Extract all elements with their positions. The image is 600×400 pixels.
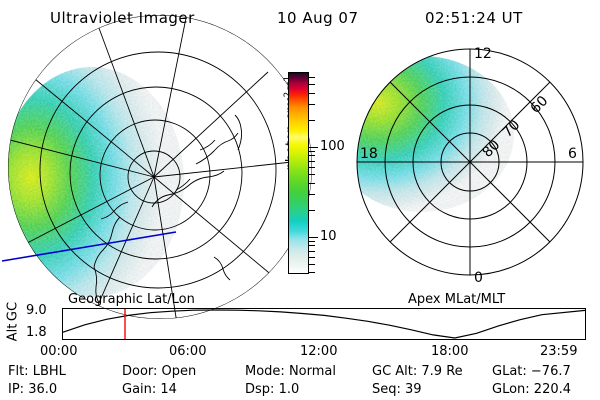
status-field-value: 39: [405, 382, 422, 397]
status-field-value: Open: [162, 364, 197, 379]
status-field-label: Door:: [122, 364, 162, 379]
status-field-label: IP:: [8, 382, 28, 397]
status-field-value: −76.7: [531, 364, 571, 379]
status-field-door: Door: Open: [122, 364, 196, 379]
altitude-max-value: 9.0: [26, 303, 47, 318]
colorbar-minor-tick: [309, 93, 315, 94]
colorbar-minor-tick: [309, 155, 315, 156]
mlat-mlt-grid: [357, 49, 583, 275]
auroral-emission-magnetic: [330, 56, 514, 212]
colorbar-minor-tick: [309, 257, 315, 258]
status-field-label: Flt:: [8, 364, 33, 379]
colorbar-minor-tick: [309, 264, 315, 265]
colorbar-minor-tick: [309, 245, 315, 246]
time-tick-2359: 23:59: [540, 344, 577, 359]
time-axis: 00:0006:0012:0018:0023:59: [0, 344, 600, 362]
colorbar-gradient-box: [288, 72, 309, 274]
status-field-mode: Mode: Normal: [245, 364, 336, 379]
status-field-value: LBHL: [33, 364, 66, 379]
magnetic-panel-caption: Apex MLat/MLT: [408, 292, 505, 307]
time-tick-1200: 12:00: [300, 344, 337, 359]
observation-date: 10 Aug 07: [277, 9, 359, 27]
colorbar-minor-tick: [309, 77, 315, 78]
colorbar-minor-tick: [309, 272, 315, 273]
status-field-gc-alt: GC Alt: 7.9 Re: [372, 364, 463, 379]
auroral-emission-geographic: [0, 67, 184, 297]
colorbar-tick-100: [309, 147, 318, 148]
time-tick-0000: 00:00: [40, 344, 77, 359]
status-field-glat: GLat: −76.7: [492, 364, 571, 379]
status-field-label: GC Alt:: [372, 364, 421, 379]
colorbar-minor-tick: [309, 120, 315, 121]
colorbar-minor-tick: [309, 161, 315, 162]
colorbar-tick-label-10: 10: [320, 230, 337, 243]
status-field-glon: GLon: 220.4: [492, 382, 571, 397]
magnetic-dial-panel[interactable]: 12 6 0 18 60 70 80: [340, 42, 600, 292]
colorbar-minor-tick: [309, 174, 315, 175]
colorbar-tick-10: [309, 237, 318, 238]
time-tick-0600: 06:00: [169, 344, 206, 359]
status-field-value: 220.4: [534, 382, 571, 397]
header-bar: Ultraviolet Imager 10 Aug 07 02:51:24 UT: [0, 6, 600, 32]
geographic-image-panel[interactable]: [0, 42, 268, 292]
colorbar-minor-tick: [309, 151, 315, 152]
status-field-flt: Flt: LBHL: [8, 364, 66, 379]
colorbar-minor-tick: [309, 210, 315, 211]
status-field-label: Mode:: [245, 364, 289, 379]
status-footer: Flt: LBHLDoor: OpenMode: NormalGC Alt: 7…: [0, 364, 600, 400]
orbit-altitude-curve: [63, 309, 585, 339]
colorbar-minor-tick: [309, 183, 315, 184]
geographic-panel-caption: Geographic Lat/Lon: [68, 292, 195, 307]
status-field-seq: Seq: 39: [372, 382, 422, 397]
status-field-gain: Gain: 14: [122, 382, 177, 397]
status-field-value: 1.0: [279, 382, 300, 397]
mlt-label-18: 18: [360, 146, 378, 162]
status-field-ip: IP: 36.0: [8, 382, 57, 397]
status-field-value: 14: [160, 382, 177, 397]
status-field-value: 36.0: [28, 382, 57, 397]
colorbar-gradient: [289, 73, 308, 273]
mlt-label-0: 0: [474, 270, 483, 286]
colorbar[interactable]: photon cm-2s-1 10010: [270, 55, 340, 290]
status-field-label: GLat:: [492, 364, 531, 379]
status-field-value: 7.9 Re: [421, 364, 462, 379]
observation-time: 02:51:24 UT: [425, 9, 523, 27]
orbit-altitude-plot[interactable]: [62, 308, 586, 340]
colorbar-minor-tick: [309, 84, 315, 85]
status-field-label: Gain:: [122, 382, 160, 397]
altitude-min-value: 1.8: [26, 325, 47, 340]
colorbar-minor-tick: [309, 251, 315, 252]
status-field-label: GLon:: [492, 382, 534, 397]
colorbar-minor-tick: [309, 194, 315, 195]
colorbar-minor-tick: [309, 167, 315, 168]
colorbar-minor-tick: [309, 104, 315, 105]
status-field-value: Normal: [289, 364, 336, 379]
colorbar-minor-tick: [309, 241, 315, 242]
mlt-label-6: 6: [568, 146, 577, 162]
mlat-label-60: 60: [528, 93, 552, 117]
status-field-dsp: Dsp: 1.0: [245, 382, 299, 397]
status-field-label: Dsp:: [245, 382, 279, 397]
mlt-label-12: 12: [474, 46, 492, 62]
status-field-label: Seq:: [372, 382, 405, 397]
altitude-axis-label-alt: Alt: [6, 318, 21, 348]
page-title: Ultraviolet Imager: [50, 9, 195, 27]
time-tick-1800: 18:00: [431, 344, 468, 359]
